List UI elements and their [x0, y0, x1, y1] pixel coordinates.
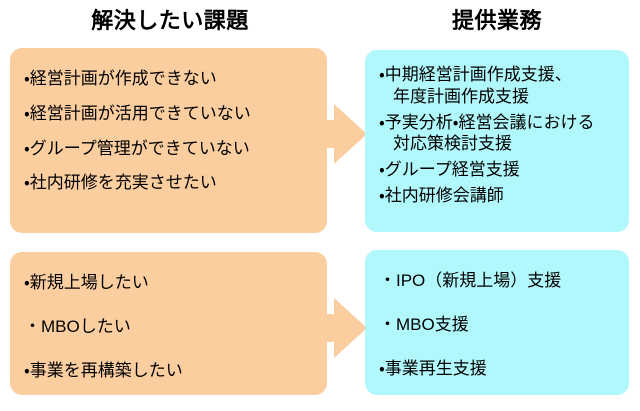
list-item-label: 予実分析・経営会議における	[385, 113, 595, 132]
list-item: ・事業を再構築したい	[24, 360, 319, 382]
list-item: ・MBO支援	[379, 314, 621, 336]
list-item-continuation: 対応策検討支援	[393, 133, 621, 155]
right-arrow-icon	[296, 296, 368, 360]
list-item-label: 新規上場したい	[30, 273, 149, 292]
list-item-label: 経営計画が活用できていない	[30, 104, 251, 123]
list-item: ・新規上場したい	[24, 272, 319, 294]
list-item: ・経営計画が活用できていない	[24, 103, 319, 125]
list-item: ・予実分析・経営会議における 対応策検討支援	[379, 112, 621, 156]
services-list-group-2: ・IPO（新規上場）支援 ・MBO支援 ・事業再生支援	[379, 270, 621, 401]
bullet-marker: ・	[24, 317, 41, 336]
bullet-marker: ・	[379, 271, 396, 290]
list-item-label: グループ管理ができていない	[30, 139, 250, 158]
list-item-label: MBOしたい	[41, 317, 131, 336]
list-item: ・社内研修を充実させたい	[24, 172, 319, 194]
services-column-heading: 提供業務	[365, 10, 629, 32]
list-item-label: 中期経営計画作成支援、	[385, 65, 572, 84]
list-item: ・社内研修会講師	[379, 185, 621, 207]
list-item-label: 経営計画が作成できない	[30, 69, 217, 88]
list-item: ・グループ経営支援	[379, 159, 621, 181]
list-item: ・IPO（新規上場）支援	[379, 270, 621, 292]
list-item-label: 事業を再構築したい	[30, 361, 183, 380]
problems-list-group-1: ・経営計画が作成できない ・経営計画が活用できていない ・グループ管理ができてい…	[24, 68, 319, 207]
list-item: ・中期経営計画作成支援、 年度計画作成支援	[379, 64, 621, 108]
list-item-label: グループ経営支援	[385, 160, 520, 179]
list-item-label: MBO支援	[396, 315, 469, 334]
list-item: ・経営計画が作成できない	[24, 68, 319, 90]
problems-list-group-2: ・新規上場したい ・MBOしたい ・事業を再構築したい	[24, 272, 319, 403]
list-item: ・グループ管理ができていない	[24, 138, 319, 160]
services-list-group-1: ・中期経営計画作成支援、 年度計画作成支援 ・予実分析・経営会議における 対応策…	[379, 64, 621, 211]
diagram-canvas: 解決したい課題 提供業務 ・経営計画が作成できない ・経営計画が活用できていない…	[0, 0, 640, 411]
list-item-continuation: 年度計画作成支援	[393, 86, 621, 108]
list-item-label: 社内研修会講師	[385, 186, 504, 205]
problems-panel-group-1: ・経営計画が作成できない ・経営計画が活用できていない ・グループ管理ができてい…	[10, 48, 327, 233]
right-arrow-icon	[296, 102, 368, 166]
list-item-label: 事業再生支援	[385, 359, 487, 378]
list-item-label: 社内研修を充実させたい	[30, 173, 217, 192]
problems-column-heading: 解決したい課題	[10, 10, 330, 32]
list-item-label: IPO（新規上場）支援	[396, 271, 561, 290]
problems-panel-group-2: ・新規上場したい ・MBOしたい ・事業を再構築したい	[10, 252, 327, 395]
services-panel-group-1: ・中期経営計画作成支援、 年度計画作成支援 ・予実分析・経営会議における 対応策…	[365, 50, 629, 232]
services-panel-group-2: ・IPO（新規上場）支援 ・MBO支援 ・事業再生支援	[365, 250, 629, 395]
list-item: ・MBOしたい	[24, 316, 319, 338]
list-item: ・事業再生支援	[379, 358, 621, 380]
bullet-marker: ・	[379, 315, 396, 334]
